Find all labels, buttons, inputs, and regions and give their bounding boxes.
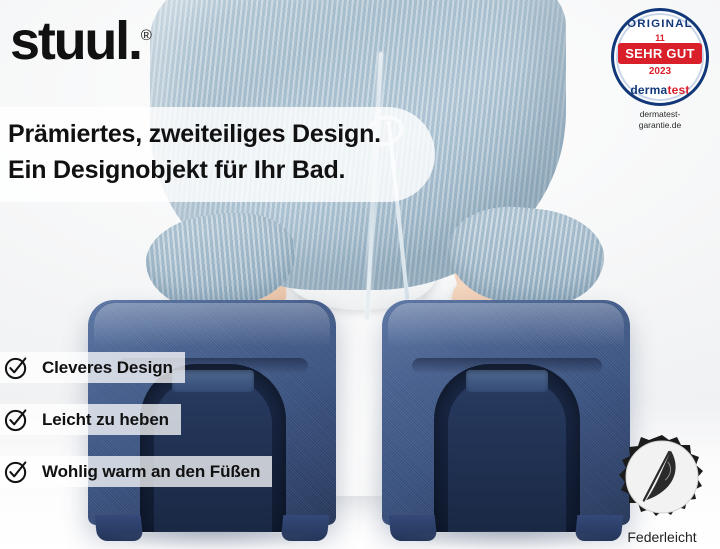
list-item: Leicht zu heben xyxy=(0,404,181,435)
dermatest-seal: ORIGINAL 11 SEHR GUT 2023 dermatest derm… xyxy=(608,8,712,130)
dermatest-caption-line-1: dermatest- xyxy=(608,109,712,120)
trademark-symbol: ® xyxy=(141,27,152,44)
check-circle-icon xyxy=(4,407,29,432)
dermatest-arc-top: ORIGINAL xyxy=(612,18,709,30)
feature-list: Cleveres Design Leicht zu heben Wohlig w… xyxy=(0,352,272,487)
feature-label: Wohlig warm an den Füßen xyxy=(42,462,260,482)
list-item: Wohlig warm an den Füßen xyxy=(0,456,272,487)
dermatest-wordmark: dermatest xyxy=(614,83,706,97)
dermatest-number: 11 xyxy=(614,33,706,43)
headline-line-1: Prämiertes, zweiteiliges Design. xyxy=(8,117,381,153)
dermatest-caption: dermatest- garantie.de xyxy=(608,109,712,130)
list-item: Cleveres Design xyxy=(0,352,185,383)
headline-line-2: Ein Designobjekt für Ihr Bad. xyxy=(8,153,381,189)
federleicht-label: Federleicht xyxy=(610,529,714,545)
product-banner: stuul.® Prämiertes, zweiteiliges Design.… xyxy=(0,0,720,549)
dermatest-caption-line-2: garantie.de xyxy=(608,120,712,131)
dermatest-wordmark-prefix: derma xyxy=(630,83,667,97)
dermatest-year: 2023 xyxy=(614,66,706,77)
dermatest-rating: SEHR GUT xyxy=(618,43,702,64)
stool-right xyxy=(382,300,630,525)
stool-right-notch xyxy=(466,370,548,392)
stool-left-shadow xyxy=(98,531,326,549)
federleicht-badge xyxy=(616,433,708,525)
stool-right-highlight xyxy=(388,303,624,347)
brand-logo-text: stuul. xyxy=(10,11,141,71)
stool-left-highlight xyxy=(94,303,330,347)
brand-logo: stuul.® xyxy=(10,14,152,68)
dermatest-wordmark-suffix: test xyxy=(667,83,689,97)
check-circle-icon xyxy=(4,355,29,380)
check-circle-icon xyxy=(4,459,29,484)
federleicht-seal: Federleicht xyxy=(610,433,714,545)
feature-label: Leicht zu heben xyxy=(42,410,169,430)
headline: Prämiertes, zweiteiliges Design. Ein Des… xyxy=(0,107,435,202)
feather-icon xyxy=(616,433,708,525)
stool-right-arch-inner xyxy=(448,380,566,532)
feature-label: Cleveres Design xyxy=(42,358,173,378)
dermatest-ring: ORIGINAL 11 SEHR GUT 2023 dermatest xyxy=(611,8,709,106)
stool-right-shadow xyxy=(392,531,620,549)
